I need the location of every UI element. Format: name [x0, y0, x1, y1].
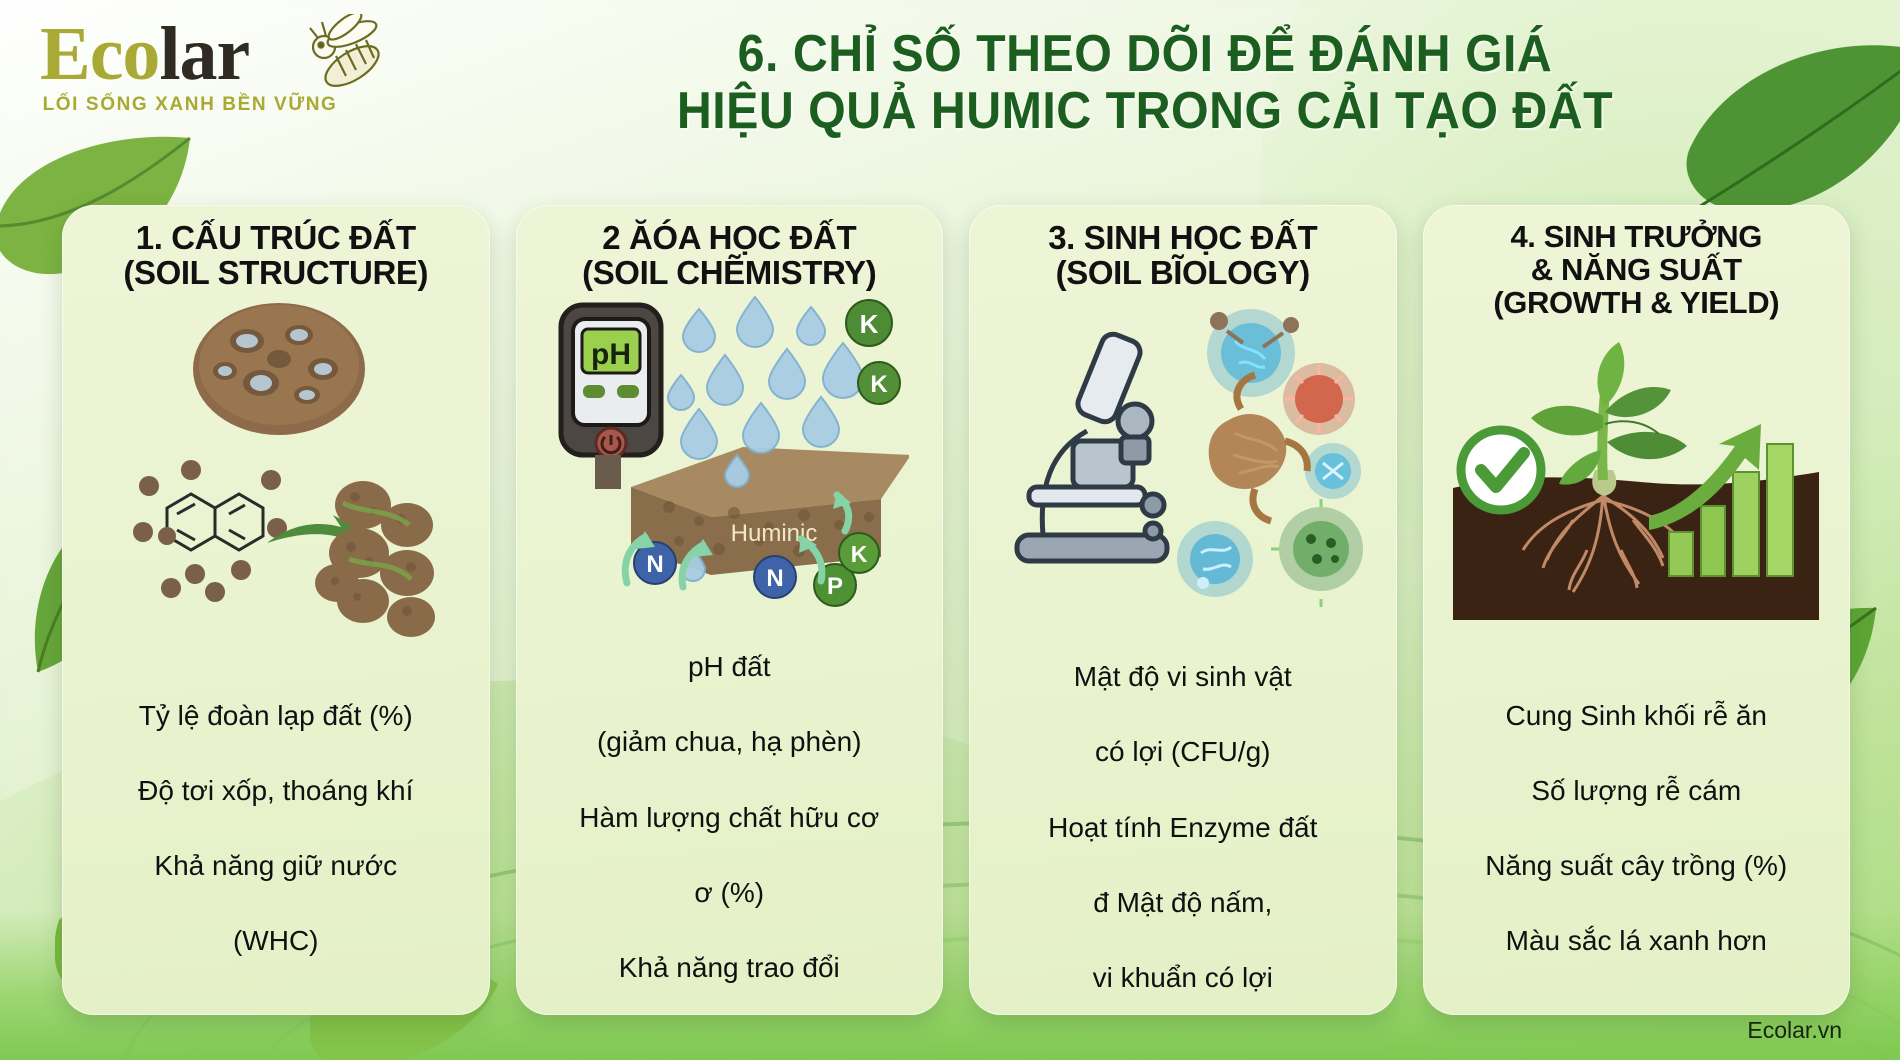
- card-soil-structure[interactable]: 1. CẤU TRÚC ĐẤT (SOIL STRUCTURE): [62, 205, 490, 1015]
- bee-icon: [290, 14, 400, 104]
- card-soil-biology[interactable]: 3. SINH HỌC ĐẤT (SOIL BĨOLOGY): [969, 205, 1397, 1015]
- card-illustration: [979, 291, 1387, 621]
- microscope-icon: [1017, 331, 1167, 561]
- card-metric-line: Mật độ vi sinh vật: [1048, 658, 1317, 696]
- card-metric-line: vi khuẩn có lợi: [1048, 959, 1317, 997]
- card-title: 4. SINH TRƯỞNG & NĂNG SUẤT (GROWTH & YIE…: [1493, 221, 1779, 320]
- ph-meter-icon: pH: [561, 305, 661, 489]
- cards-row: 1. CẤU TRÚC ĐẤT (SOIL STRUCTURE): [62, 205, 1850, 1015]
- page-header: Ecolar LỐI SỐNG XANH BỀN VỮNG 6. CHỈ SỐ …: [0, 0, 1900, 200]
- card-metric-line: Độ tơi xốp, thoáng khí: [138, 772, 413, 810]
- card-metric-line: ơ (%): [579, 874, 879, 912]
- card-title: 2 ĂÓA HỌC ĐẤT (SOIL CHẼMISTRY): [582, 221, 876, 291]
- card-metric-line: Năng suất cây trồng (%): [1485, 847, 1787, 885]
- card-illustration: [1433, 320, 1841, 620]
- card-metric-line: Hàm lượng chất hữu cơ: [579, 799, 879, 837]
- footer-website: Ecolar.vn: [1747, 1017, 1842, 1044]
- brand-name-eco: Eco: [40, 12, 159, 96]
- page-title-line-2: HIỆU QUẢ HUMIC TRONG CẢI TẠO ĐẤT: [480, 83, 1810, 140]
- card-metrics: pH đất (giảm chua, hạ phèn) Hàm lượng ch…: [573, 611, 885, 1015]
- svg-text:K: K: [860, 309, 879, 339]
- card-metric-line: Khả năng giữ nước: [138, 847, 413, 885]
- card-metric-line: có lợi (CFU/g): [1048, 733, 1317, 771]
- svg-text:pH: pH: [591, 338, 631, 371]
- svg-text:K: K: [851, 541, 868, 567]
- card-metric-line: Tỷ lệ đoàn lạp đất (%): [138, 697, 413, 735]
- svg-text:P: P: [827, 573, 843, 600]
- card-metric-line: Cung Sinh khối rễ ăn: [1485, 697, 1787, 735]
- card-metric-line: đ Mật độ nấm,: [1048, 884, 1317, 922]
- svg-text:N: N: [647, 551, 664, 578]
- card-metric-line: Khả năng trao đổi: [579, 949, 879, 987]
- card-metric-line: (giảm chua, hạ phèn): [579, 723, 879, 761]
- card-illustration: [72, 291, 480, 651]
- svg-text:K: K: [871, 371, 889, 398]
- card-metric-line: (WHC): [138, 922, 413, 960]
- card-metric-line: Hoạt tính Enzyme đất: [1048, 809, 1317, 847]
- card-title: 3. SINH HỌC ĐẤT (SOIL BĨOLOGY): [1048, 221, 1317, 291]
- svg-text:N: N: [767, 565, 784, 592]
- card-title: 1. CẤU TRÚC ĐẤT (SOIL STRUCTURE): [123, 221, 428, 291]
- card-metrics: Tỷ lệ đoàn lạp đất (%) Độ tơi xốp, thoán…: [132, 659, 419, 1001]
- card-soil-chemistry[interactable]: 2 ĂÓA HỌC ĐẤT (SOIL CHẼMISTRY) pH: [516, 205, 944, 1015]
- page-title-line-1: 6. CHỈ SỐ THEO DÕI ĐỂ ĐÁNH GIÁ: [480, 26, 1810, 83]
- check-icon: [1461, 430, 1541, 510]
- card-metrics: Mật độ vi sinh vật có lợi (CFU/g) Hoạt t…: [1042, 621, 1323, 1015]
- card-metric-line: pH đất: [579, 648, 879, 686]
- card-illustration: pH Huminic: [526, 291, 934, 611]
- brand-logo: Ecolar LỐI SỐNG XANH BỀN VỮNG: [40, 18, 370, 116]
- card-metric-line: Màu sắc lá xanh hơn: [1485, 922, 1787, 960]
- page-title: 6. CHỈ SỐ THEO DÕI ĐỂ ĐÁNH GIÁ HIỆU QUẢ …: [430, 26, 1860, 140]
- card-growth-yield[interactable]: 4. SINH TRƯỞNG & NĂNG SUẤT (GROWTH & YIE…: [1423, 205, 1851, 1015]
- brand-name-lar: lar: [159, 12, 249, 96]
- card-metric-line: Số lượng rễ cám: [1485, 772, 1787, 810]
- card-metrics: Cung Sinh khối rễ ăn Số lượng rễ cám Năn…: [1479, 659, 1793, 1001]
